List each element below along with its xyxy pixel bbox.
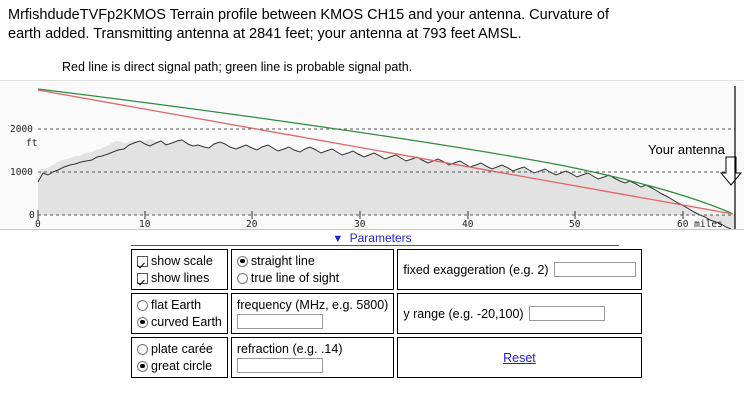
- cell-y-range: y range (e.g. -20,100): [397, 293, 641, 334]
- x-tick-label-60-miles: 60 miles: [677, 219, 723, 229]
- y-range-input[interactable]: [529, 306, 605, 321]
- exaggeration-input[interactable]: [554, 262, 636, 277]
- table-row: plate carée great circle refraction (e.g…: [131, 337, 642, 378]
- checkbox-show-scale[interactable]: show scale: [137, 253, 222, 269]
- page-title: MrfishdudeTVFp2KMOS Terrain profile betw…: [8, 6, 736, 44]
- radio-plate-caree[interactable]: plate carée: [137, 341, 222, 357]
- terrain-profile-plot: 2000 ft 1000 0 0 10 20 30 40 50 60 miles…: [0, 81, 744, 229]
- x-tick-label-10: 10: [139, 219, 151, 229]
- page-title-line2: earth added. Transmitting antenna at 284…: [8, 25, 736, 44]
- x-tick-label-20: 20: [246, 219, 258, 229]
- y-tick-label-2000: 2000: [10, 124, 33, 135]
- cell-exaggeration: fixed exaggeration (e.g. 2): [397, 249, 641, 290]
- cell-projection: plate carée great circle: [131, 337, 228, 378]
- reset-link[interactable]: Reset: [503, 351, 536, 365]
- radio-unselected-icon[interactable]: [237, 273, 248, 284]
- refraction-label: refraction (e.g. .14): [237, 342, 343, 356]
- radio-flat-earth-label: flat Earth: [151, 297, 201, 313]
- cell-display-options: show scale show lines: [131, 249, 228, 290]
- radio-plate-caree-label: plate carée: [151, 341, 213, 357]
- radio-selected-icon[interactable]: [137, 317, 148, 328]
- table-row: flat Earth curved Earth frequency (MHz, …: [131, 293, 642, 334]
- checkbox-checked-icon[interactable]: [137, 256, 148, 267]
- x-tick-label-50: 50: [569, 219, 581, 229]
- y-range-label: y range (e.g. -20,100): [403, 307, 523, 321]
- radio-great-circle[interactable]: great circle: [137, 358, 222, 374]
- checkbox-show-lines[interactable]: show lines: [137, 270, 222, 286]
- frequency-label: frequency (MHz, e.g. 5800): [237, 298, 388, 312]
- radio-great-circle-label: great circle: [151, 358, 212, 374]
- page-title-line1: MrfishdudeTVFp2KMOS Terrain profile betw…: [8, 6, 736, 25]
- terrain-profile-chart: 2000 ft 1000 0 0 10 20 30 40 50 60 miles…: [0, 80, 744, 230]
- checkbox-show-lines-label: show lines: [151, 270, 209, 286]
- cell-reset: Reset: [397, 337, 641, 378]
- exaggeration-label: fixed exaggeration (e.g. 2): [403, 263, 548, 277]
- frequency-input[interactable]: [237, 314, 323, 329]
- refraction-input[interactable]: [237, 358, 323, 373]
- y-axis-unit-label: ft: [26, 138, 37, 149]
- x-tick-label-0: 0: [35, 219, 41, 229]
- your-antenna-label: Your antenna: [648, 142, 726, 157]
- radio-true-line-of-sight-label: true line of sight: [251, 270, 339, 286]
- radio-curved-earth[interactable]: curved Earth: [137, 314, 222, 330]
- y-tick-label-1000: 1000: [10, 167, 33, 178]
- chart-legend-note: Red line is direct signal path; green li…: [62, 60, 412, 75]
- cell-line-mode: straight line true line of sight: [231, 249, 394, 290]
- radio-flat-earth[interactable]: flat Earth: [137, 297, 222, 313]
- table-row: show scale show lines straight line true…: [131, 249, 642, 290]
- chevron-down-icon: ▼: [332, 233, 343, 245]
- radio-unselected-icon[interactable]: [137, 300, 148, 311]
- radio-selected-icon[interactable]: [237, 256, 248, 267]
- radio-straight-line-label: straight line: [251, 253, 315, 269]
- x-tick-label-30: 30: [354, 219, 366, 229]
- radio-straight-line[interactable]: straight line: [237, 253, 388, 269]
- parameters-table: show scale show lines straight line true…: [128, 246, 645, 381]
- checkbox-show-scale-label: show scale: [151, 253, 213, 269]
- radio-unselected-icon[interactable]: [137, 344, 148, 355]
- cell-refraction: refraction (e.g. .14): [231, 337, 394, 378]
- x-tick-label-40: 40: [462, 219, 474, 229]
- parameters-toggle-label: Parameters: [350, 231, 412, 245]
- checkbox-checked-icon[interactable]: [137, 273, 148, 284]
- radio-selected-icon[interactable]: [137, 361, 148, 372]
- cell-frequency: frequency (MHz, e.g. 5800): [231, 293, 394, 334]
- radio-curved-earth-label: curved Earth: [151, 314, 222, 330]
- parameters-disclosure-toggle[interactable]: ▼ Parameters: [0, 231, 744, 245]
- cell-earth-shape: flat Earth curved Earth: [131, 293, 228, 334]
- radio-true-line-of-sight[interactable]: true line of sight: [237, 270, 388, 286]
